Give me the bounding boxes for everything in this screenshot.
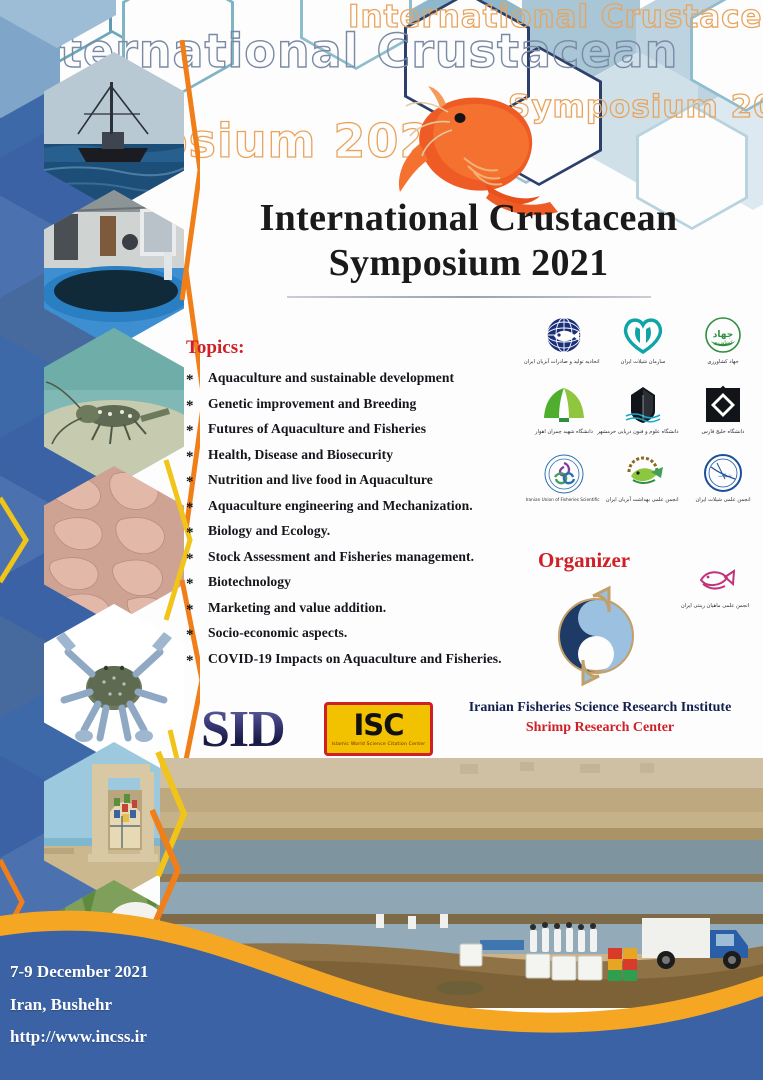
topic-label: COVID-19 Impacts on Aquaculture and Fish… bbox=[208, 651, 502, 667]
topic-item: *Aquaculture and sustainable development bbox=[186, 370, 526, 396]
title-line-2: Symposium 2021 bbox=[196, 241, 741, 286]
svg-text:جهاد: جهاد bbox=[713, 330, 733, 340]
topic-label: Aquaculture engineering and Mechanizatio… bbox=[208, 498, 473, 514]
topic-bullet: * bbox=[186, 396, 208, 415]
topic-item: *Biotechnology bbox=[186, 574, 526, 600]
topics-list: *Aquaculture and sustainable development… bbox=[186, 370, 526, 676]
iranian-scientific-shrimp-association-logo: شیلات bbox=[686, 450, 760, 496]
sponsor-logo: سازمان شیلات ایران bbox=[606, 312, 680, 366]
title-divider bbox=[287, 296, 651, 298]
isc-logo: ISC Islamic World Science Citation Cente… bbox=[324, 702, 433, 756]
topic-item: *Futures of Aquaculture and Fisheries bbox=[186, 421, 526, 447]
sponsor-logo: جهاد کشاورزی جهاد کشاورزی bbox=[686, 312, 760, 366]
persian-gulf-university-logo bbox=[686, 382, 760, 428]
sponsor-logo: شیلات انجمن علمی شیلات ایران bbox=[686, 450, 760, 504]
topic-bullet: * bbox=[186, 447, 208, 466]
poster-footer: 7-9 December 2021 Iran, Bushehr http://w… bbox=[0, 880, 763, 1080]
sponsor-logo: دانشگاه شهید چمران اهواز bbox=[527, 382, 601, 436]
svg-text:شیلات: شیلات bbox=[718, 473, 731, 479]
topic-label: Socio-economic aspects. bbox=[208, 625, 347, 641]
sponsor-caption: انجمن علمی شیلات ایران bbox=[688, 497, 759, 503]
topic-bullet: * bbox=[186, 370, 208, 389]
event-date: 7-9 December 2021 bbox=[10, 956, 148, 989]
topic-bullet: * bbox=[186, 625, 208, 644]
event-website[interactable]: http://www.incss.ir bbox=[10, 1021, 148, 1054]
watermark-title-line1-alt: International Crustacean bbox=[348, 2, 763, 34]
sponsor-row: اتحادیه تولید و صادرات آبزیان ایران سازم… bbox=[524, 312, 763, 366]
sponsor-caption: دانشگاه علوم و فنون دریایی خرمشهر bbox=[608, 429, 679, 435]
topics-heading: Topics: bbox=[186, 337, 244, 359]
title-line-1: International Crustacean bbox=[196, 196, 741, 241]
topic-label: Nutrition and live food in Aquaculture bbox=[208, 472, 433, 488]
sponsor-caption: اتحادیه تولید و صادرات آبزیان ایران bbox=[528, 359, 599, 365]
sponsor-row: Iranian Union of Fisheries Scientific ان… bbox=[524, 450, 763, 504]
topic-bullet: * bbox=[186, 651, 208, 670]
topic-item: *Marketing and value addition. bbox=[186, 600, 526, 626]
topic-bullet: * bbox=[186, 523, 208, 542]
topic-bullet: * bbox=[186, 574, 208, 593]
topic-item: *Biology and Ecology. bbox=[186, 523, 526, 549]
topic-label: Futures of Aquaculture and Fisheries bbox=[208, 421, 426, 437]
sponsor-logo: اتحادیه تولید و صادرات آبزیان ایران bbox=[527, 312, 601, 366]
topic-bullet: * bbox=[186, 472, 208, 491]
event-location: Iran, Bushehr bbox=[10, 989, 148, 1022]
organizer-label: Organizer bbox=[538, 548, 630, 573]
sponsor-row: دانشگاه شهید چمران اهواز دانشگاه علوم و … bbox=[524, 382, 763, 436]
sponsor-caption: انجمن علمی بهداشت آبزیان ایران bbox=[608, 497, 679, 503]
sponsor-caption: سازمان شیلات ایران bbox=[608, 359, 679, 365]
iranian-fisheries-trade-union-logo bbox=[527, 312, 601, 358]
research-center-name: Shrimp Research Center bbox=[440, 718, 760, 738]
khorramshahr-marine-science-university-logo bbox=[606, 382, 680, 428]
topic-bullet: * bbox=[186, 600, 208, 619]
sponsor-logo: انجمن علمی ماهیان زینتی ایران bbox=[676, 556, 754, 610]
topic-bullet: * bbox=[186, 549, 208, 568]
institute-block: Iranian Fisheries Science Research Insti… bbox=[440, 698, 760, 739]
isc-label: ISC bbox=[354, 711, 404, 740]
iranian-aquatic-biology-society-logo bbox=[676, 556, 754, 602]
topic-label: Aquaculture and sustainable development bbox=[208, 370, 454, 386]
topic-item: *COVID-19 Impacts on Aquaculture and Fis… bbox=[186, 651, 526, 677]
footer-info: 7-9 December 2021 Iran, Bushehr http://w… bbox=[10, 956, 148, 1054]
topic-item: *Health, Disease and Biosecurity bbox=[186, 447, 526, 473]
topic-label: Stock Assessment and Fisheries managemen… bbox=[208, 549, 474, 565]
topic-item: *Nutrition and live food in Aquaculture bbox=[186, 472, 526, 498]
topic-item: *Socio-economic aspects. bbox=[186, 625, 526, 651]
isc-sublabel: Islamic World Science Citation Center bbox=[332, 742, 426, 747]
institute-name: Iranian Fisheries Science Research Insti… bbox=[440, 698, 760, 718]
topic-bullet: * bbox=[186, 421, 208, 440]
jahad-keshavarzi-logo: جهاد کشاورزی bbox=[686, 312, 760, 358]
conference-poster: International Crustacean Symposium 2021 … bbox=[0, 0, 763, 1080]
topic-item: *Stock Assessment and Fisheries manageme… bbox=[186, 549, 526, 575]
poster-title: International Crustacean Symposium 2021 bbox=[196, 196, 741, 298]
svg-text:کشاورزی: کشاورزی bbox=[713, 340, 733, 346]
sponsor-logo: انجمن علمی بهداشت آبزیان ایران bbox=[606, 450, 680, 504]
sponsor-logo: Iranian Union of Fisheries Scientific bbox=[527, 451, 601, 504]
sponsor-logo: دانشگاه خلیج فارس bbox=[686, 382, 760, 436]
sponsor-caption: جهاد کشاورزی bbox=[688, 359, 759, 365]
shrimp-research-center-logo bbox=[549, 578, 643, 690]
topic-item: *Genetic improvement and Breeding bbox=[186, 396, 526, 422]
topic-label: Genetic improvement and Breeding bbox=[208, 396, 416, 412]
topic-label: Biology and Ecology. bbox=[208, 523, 330, 539]
shahid-chamran-university-ahvaz-logo bbox=[527, 382, 601, 428]
topic-item: *Aquaculture engineering and Mechanizati… bbox=[186, 498, 526, 524]
sponsor-caption: Iranian Union of Fisheries Scientific bbox=[528, 498, 599, 503]
iranian-fisheries-scientific-union-logo bbox=[527, 451, 601, 497]
iran-fisheries-organization-logo bbox=[606, 312, 680, 358]
topic-label: Biotechnology bbox=[208, 574, 291, 590]
sponsor-logo-grid: اتحادیه تولید و صادرات آبزیان ایران سازم… bbox=[524, 312, 763, 503]
sid-logo: SID bbox=[201, 700, 285, 759]
aquatic-animal-health-society-logo bbox=[606, 450, 680, 496]
sponsor-caption: انجمن علمی ماهیان زینتی ایران bbox=[678, 603, 753, 609]
topic-label: Health, Disease and Biosecurity bbox=[208, 447, 393, 463]
topic-bullet: * bbox=[186, 498, 208, 517]
topic-label: Marketing and value addition. bbox=[208, 600, 386, 616]
sponsor-caption: دانشگاه خلیج فارس bbox=[688, 429, 759, 435]
sponsor-logo: دانشگاه علوم و فنون دریایی خرمشهر bbox=[606, 382, 680, 436]
sponsor-caption: دانشگاه شهید چمران اهواز bbox=[528, 429, 599, 435]
